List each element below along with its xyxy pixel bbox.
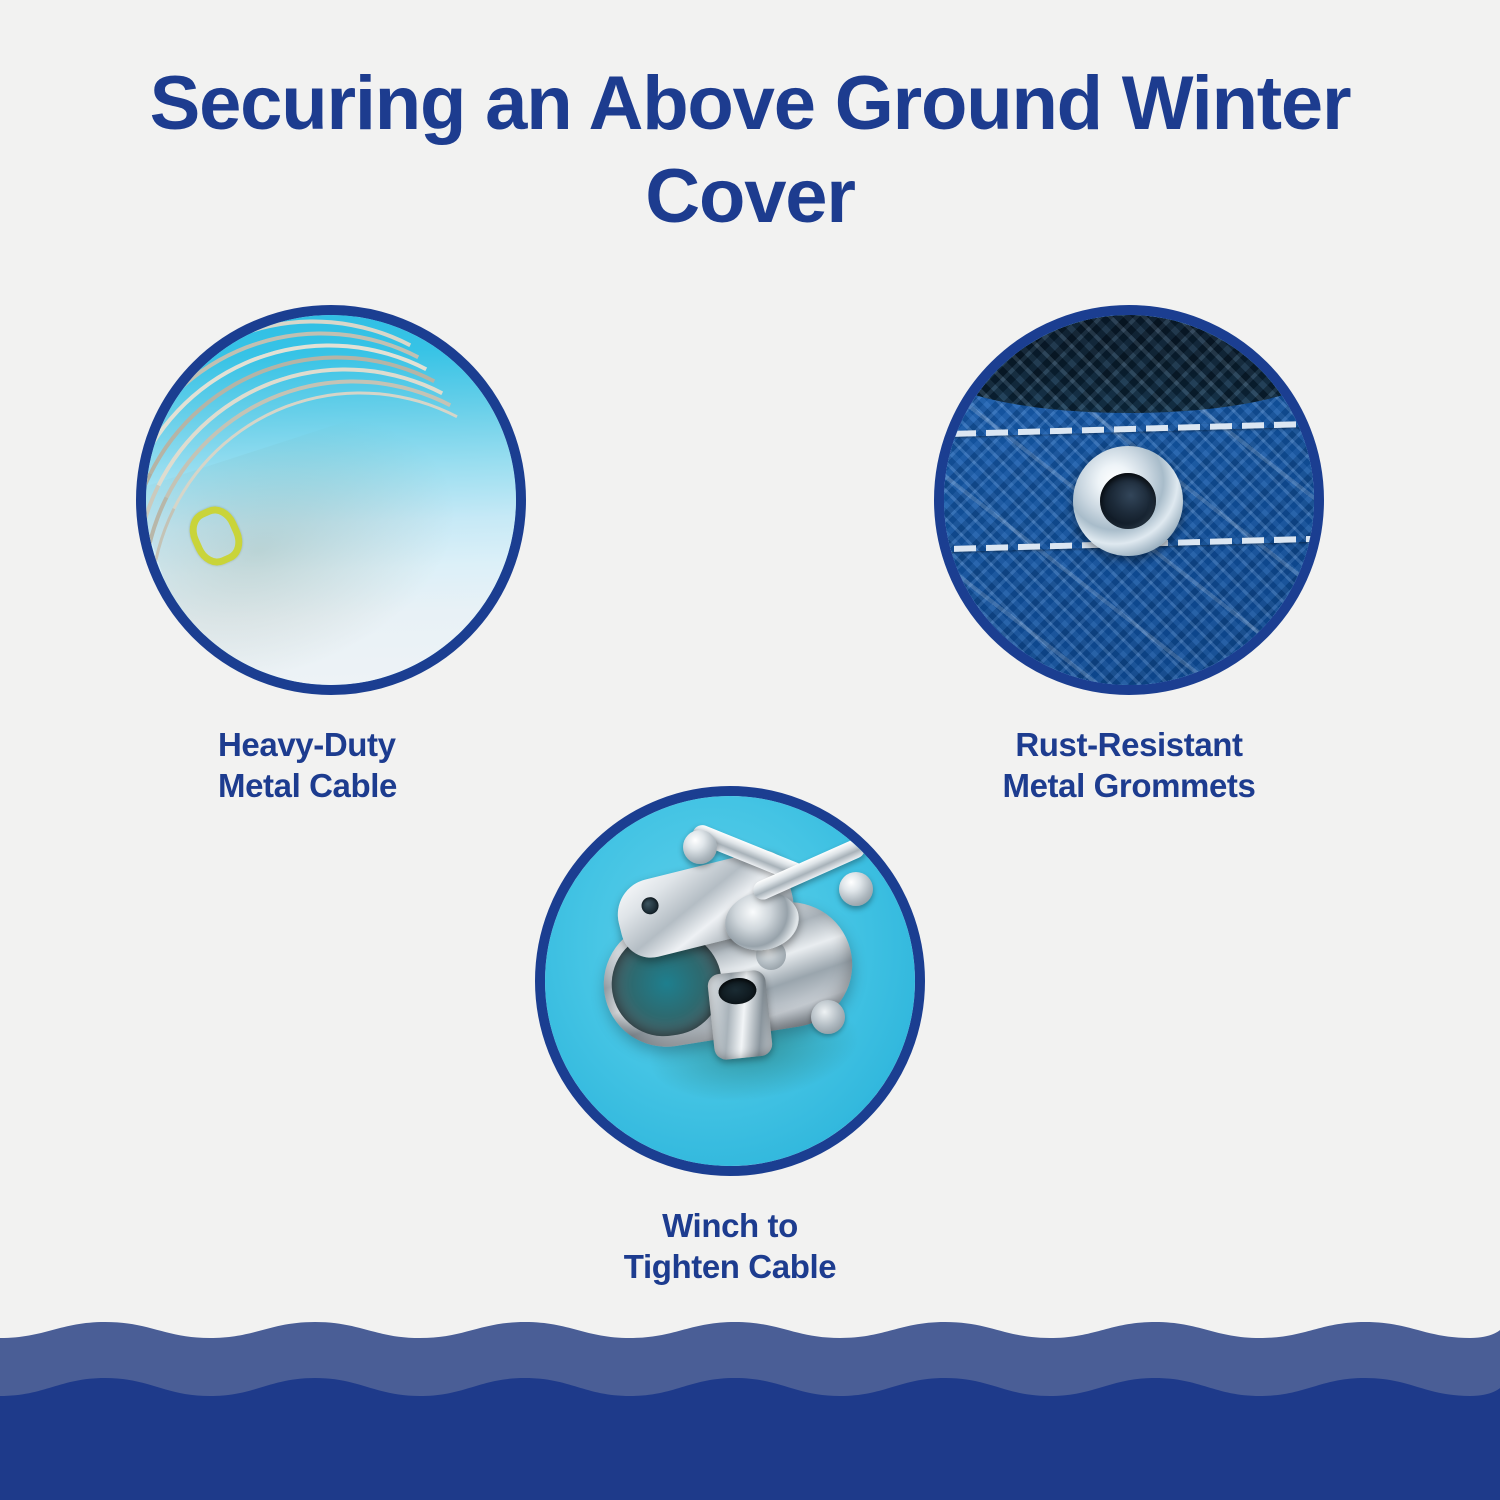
coiled-metal-cable-photo xyxy=(146,315,516,685)
metal-grommet-ring xyxy=(1073,446,1183,556)
circle-frame-winch xyxy=(535,786,925,1176)
winch-spool xyxy=(707,969,774,1061)
wave-footer xyxy=(0,1300,1500,1500)
cable-winch-photo xyxy=(545,796,915,1166)
tarp-grommet-photo xyxy=(944,315,1314,685)
wave-dark-layer xyxy=(0,1378,1500,1500)
page-title: Securing an Above Ground Winter Cover xyxy=(0,58,1500,243)
winch-photo-background xyxy=(545,796,915,1166)
grommet-photo-background xyxy=(944,315,1314,685)
cable-photo-background xyxy=(146,315,516,685)
winch-foot xyxy=(811,1000,845,1034)
tarp-reinforced-band xyxy=(944,315,1314,413)
winch-handle-knob xyxy=(839,872,873,906)
grommet-hole xyxy=(1100,473,1156,529)
feature-card-winch: Winch to Tighten Cable xyxy=(535,786,925,1288)
feature-card-cable: Heavy-Duty Metal Cable xyxy=(136,305,526,807)
feature-caption-winch: Winch to Tighten Cable xyxy=(535,1206,925,1288)
wave-footer-svg xyxy=(0,1300,1500,1500)
feature-card-grommet: Rust-Resistant Metal Grommets xyxy=(934,305,1324,807)
circle-frame-cable xyxy=(136,305,526,695)
feature-caption-grommet: Rust-Resistant Metal Grommets xyxy=(934,725,1324,807)
feature-caption-cable: Heavy-Duty Metal Cable xyxy=(136,725,526,807)
circle-frame-grommet xyxy=(934,305,1324,695)
winch-handle-knob xyxy=(683,830,717,864)
